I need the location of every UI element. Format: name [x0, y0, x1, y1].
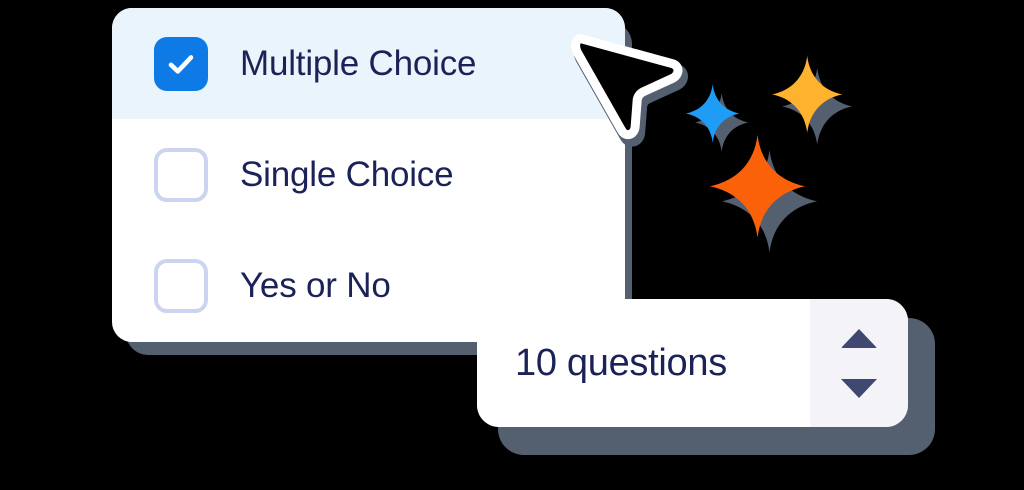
question-type-card: Multiple Choice Single Choice Yes or No — [112, 8, 625, 342]
sparkle-orange-icon — [710, 135, 818, 253]
option-label-yes-or-no: Yes or No — [240, 268, 391, 303]
triangle-up-icon — [841, 329, 877, 348]
stepper-increment-button[interactable] — [838, 327, 880, 349]
question-count-stepper: 10 questions — [477, 299, 908, 427]
triangle-down-icon — [841, 379, 877, 398]
stepper-decrement-button[interactable] — [838, 377, 880, 399]
mouse-pointer-icon — [578, 24, 686, 136]
option-label-multiple-choice: Multiple Choice — [240, 46, 476, 81]
option-row-single-choice[interactable]: Single Choice — [112, 119, 625, 230]
question-count-input[interactable]: 10 questions — [477, 299, 810, 427]
stepper-button-column — [810, 299, 908, 427]
illustration-stage: Multiple Choice Single Choice Yes or No — [0, 0, 1024, 490]
option-row-multiple-choice[interactable]: Multiple Choice — [112, 8, 625, 119]
checkbox-unchecked-icon[interactable] — [154, 259, 208, 313]
question-count-value: 10 questions — [515, 344, 727, 382]
checkbox-unchecked-icon[interactable] — [154, 148, 208, 202]
option-label-single-choice: Single Choice — [240, 157, 453, 192]
checkbox-checked-icon[interactable] — [154, 37, 208, 91]
